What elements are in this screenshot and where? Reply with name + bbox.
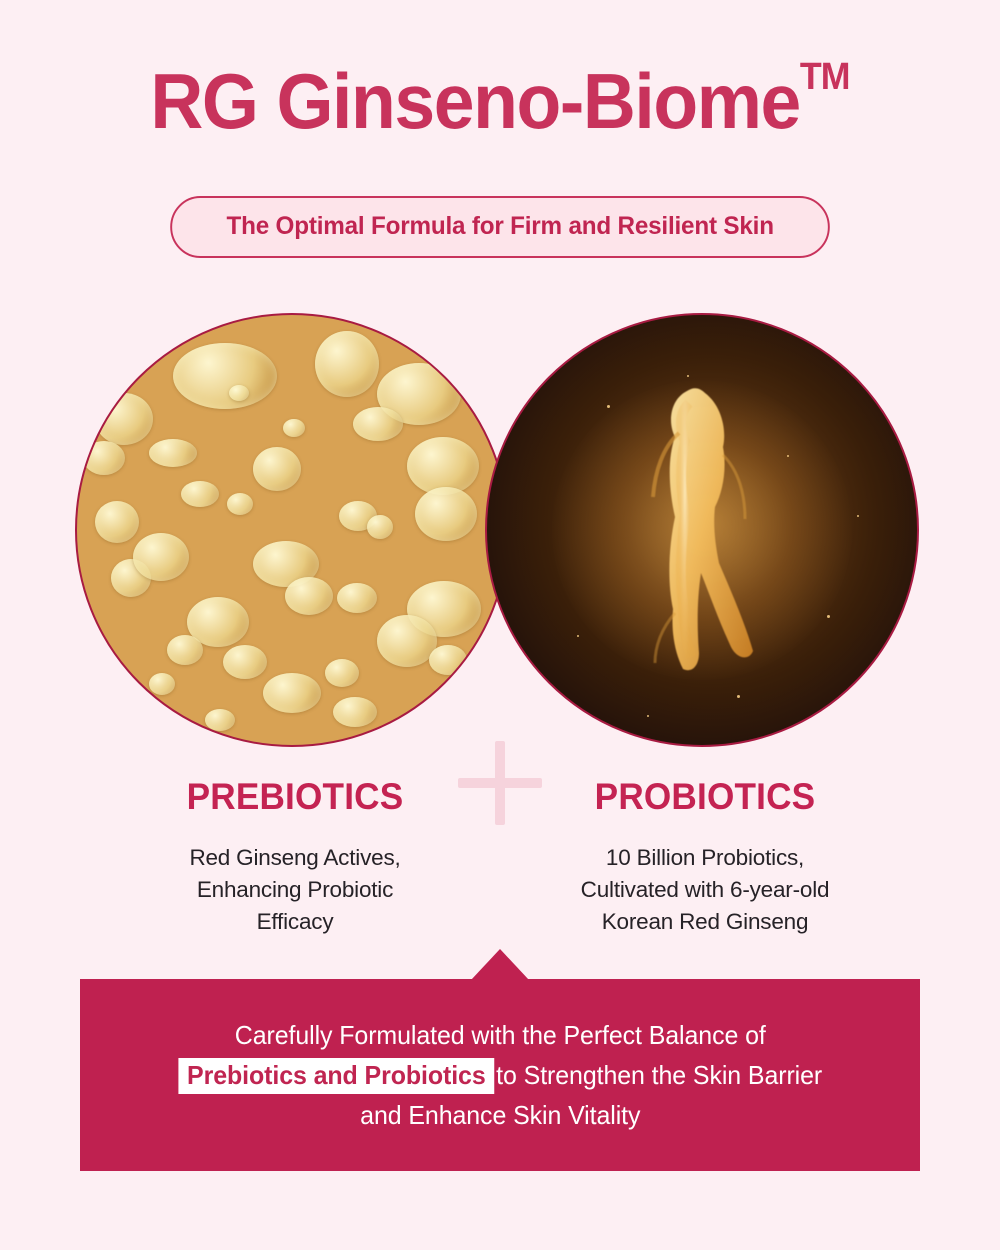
column-probiotics: PROBIOTICS 10 Billion Probiotics, Cultiv… [505, 778, 905, 938]
banner-pointer-triangle [471, 949, 529, 980]
prebiotics-line-1: Red Ginseng Actives, [95, 842, 495, 874]
imagery-row [0, 313, 1000, 749]
summary-banner-wrap: Carefully Formulated with the Perfect Ba… [0, 949, 1000, 1174]
subtitle-pill: The Optimal Formula for Firm and Resilie… [170, 196, 830, 258]
probiotics-line-2: Cultivated with 6-year-old [505, 874, 905, 906]
prebiotics-description: Red Ginseng Actives, Enhancing Probiotic… [95, 842, 495, 938]
banner-line-3: and Enhance Skin Vitality [178, 1095, 822, 1135]
summary-banner: Carefully Formulated with the Perfect Ba… [80, 979, 920, 1171]
banner-line-2: Prebiotics and Probioticsto Strengthen t… [178, 1055, 822, 1095]
subtitle-row: The Optimal Formula for Firm and Resilie… [0, 196, 1000, 258]
column-prebiotics: PREBIOTICS Red Ginseng Actives, Enhancin… [95, 778, 495, 938]
product-title: RG Ginseno-BiomeTM [150, 62, 849, 140]
title-block: RG Ginseno-BiomeTM [0, 62, 1000, 140]
prebiotics-image [75, 313, 509, 747]
plus-vertical-bar [495, 741, 505, 825]
banner-line-1: Carefully Formulated with the Perfect Ba… [178, 1015, 822, 1055]
probiotics-heading: PROBIOTICS [515, 778, 895, 815]
banner-line-2-rest: to Strengthen the Skin Barrier [496, 1060, 822, 1090]
prebiotics-line-2: Enhancing Probiotic [95, 874, 495, 906]
product-title-text: RG Ginseno-Biome [150, 57, 800, 145]
probiotics-line-1: 10 Billion Probiotics, [505, 842, 905, 874]
probiotics-line-3: Korean Red Ginseng [505, 906, 905, 938]
prebiotics-heading: PREBIOTICS [105, 778, 485, 815]
probiotics-description: 10 Billion Probiotics, Cultivated with 6… [505, 842, 905, 938]
banner-highlight: Prebiotics and Probiotics [178, 1058, 494, 1094]
trademark-symbol: TM [800, 56, 850, 98]
plus-icon [458, 741, 542, 825]
probiotics-image [485, 313, 919, 747]
promo-graphic: RG Ginseno-BiomeTM The Optimal Formula f… [0, 0, 1000, 1250]
summary-banner-text: Carefully Formulated with the Perfect Ba… [178, 1015, 822, 1136]
oil-bubble-texture [77, 315, 507, 745]
prebiotics-line-3: Efficacy [95, 906, 495, 938]
ginseng-root-illustration [627, 385, 777, 675]
